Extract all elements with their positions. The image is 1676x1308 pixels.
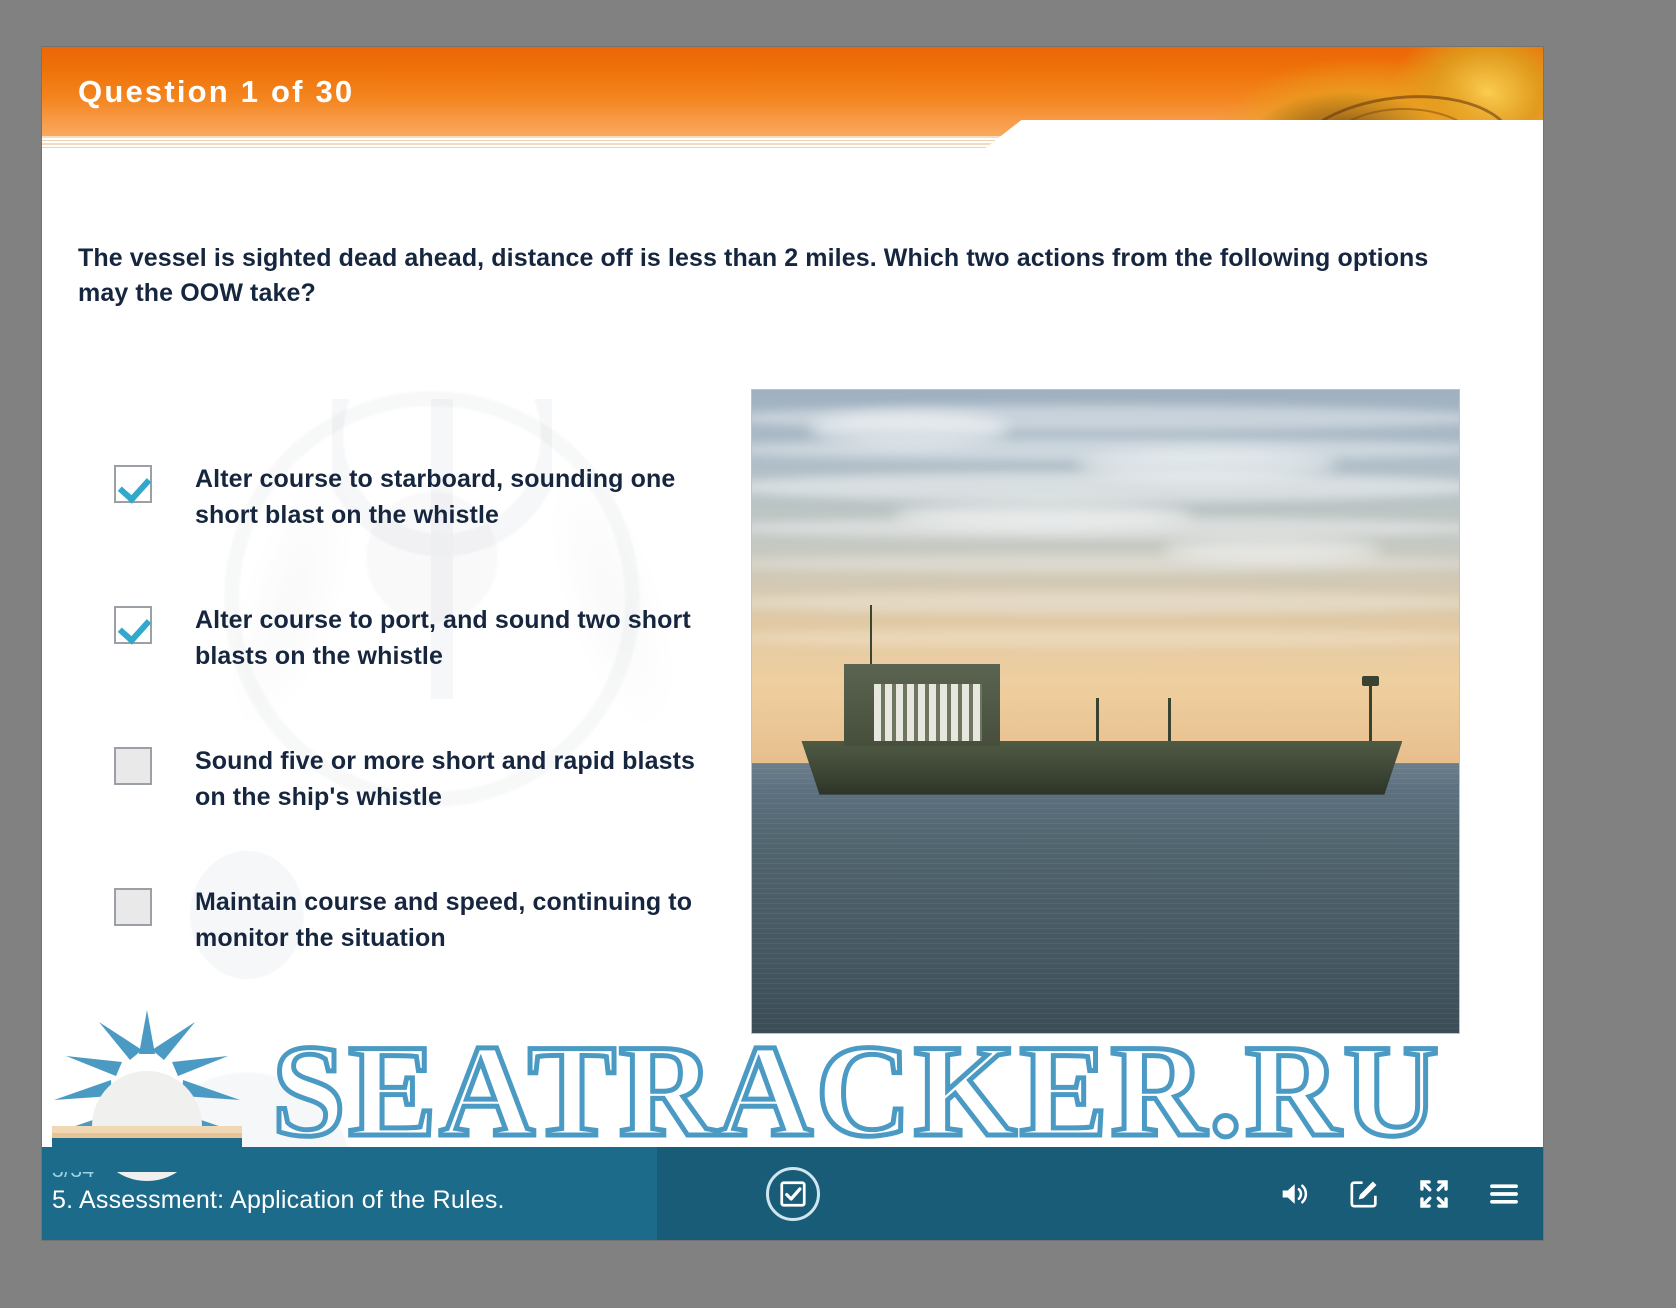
header-stripe-divider bbox=[42, 136, 1543, 149]
volume-button[interactable] bbox=[1277, 1177, 1311, 1211]
checkbox-option-4[interactable] bbox=[114, 888, 152, 926]
fullscreen-button[interactable] bbox=[1417, 1177, 1451, 1211]
page-indicator: 3/34 bbox=[52, 1159, 94, 1183]
vessel-photo bbox=[751, 389, 1460, 1034]
volume-icon bbox=[1277, 1177, 1311, 1211]
player-control-bar: 3/34 5. Assessment: Application of the R… bbox=[42, 1147, 1543, 1240]
answer-option-3[interactable]: Sound five or more short and rapid blast… bbox=[114, 743, 724, 815]
notes-annotation-icon bbox=[1347, 1177, 1381, 1211]
player-icon-group bbox=[1277, 1177, 1521, 1211]
cargo-ship-icon bbox=[801, 673, 1402, 814]
checkbox-submit-icon bbox=[778, 1179, 808, 1209]
answer-option-1[interactable]: Alter course to starboard, sounding one … bbox=[114, 461, 724, 533]
answer-option-3-label: Sound five or more short and rapid blast… bbox=[195, 743, 724, 815]
checkbox-option-1[interactable] bbox=[114, 465, 152, 503]
menu-button[interactable] bbox=[1487, 1177, 1521, 1211]
answer-option-2-label: Alter course to port, and sound two shor… bbox=[195, 602, 724, 674]
menu-icon bbox=[1487, 1177, 1521, 1211]
answer-options-list: Alter course to starboard, sounding one … bbox=[114, 461, 724, 1025]
answer-option-1-label: Alter course to starboard, sounding one … bbox=[195, 461, 724, 533]
checkbox-option-2[interactable] bbox=[114, 606, 152, 644]
page-title: Question 1 of 30 bbox=[78, 74, 354, 110]
submit-button[interactable] bbox=[766, 1167, 820, 1221]
desktop-background: Question 1 of 30 The vessel is sighted d… bbox=[0, 0, 1676, 1308]
section-title: 5. Assessment: Application of the Rules. bbox=[52, 1186, 505, 1215]
question-text: The vessel is sighted dead ahead, distan… bbox=[78, 241, 1458, 311]
answer-option-4-label: Maintain course and speed, continuing to… bbox=[195, 884, 724, 956]
checkbox-option-3[interactable] bbox=[114, 747, 152, 785]
answer-option-4[interactable]: Maintain course and speed, continuing to… bbox=[114, 884, 724, 956]
answer-option-2[interactable]: Alter course to port, and sound two shor… bbox=[114, 602, 724, 674]
notes-button[interactable] bbox=[1347, 1177, 1381, 1211]
question-body: The vessel is sighted dead ahead, distan… bbox=[42, 149, 1543, 1147]
fullscreen-icon bbox=[1417, 1177, 1451, 1211]
course-player-window: Question 1 of 30 The vessel is sighted d… bbox=[42, 47, 1543, 1240]
